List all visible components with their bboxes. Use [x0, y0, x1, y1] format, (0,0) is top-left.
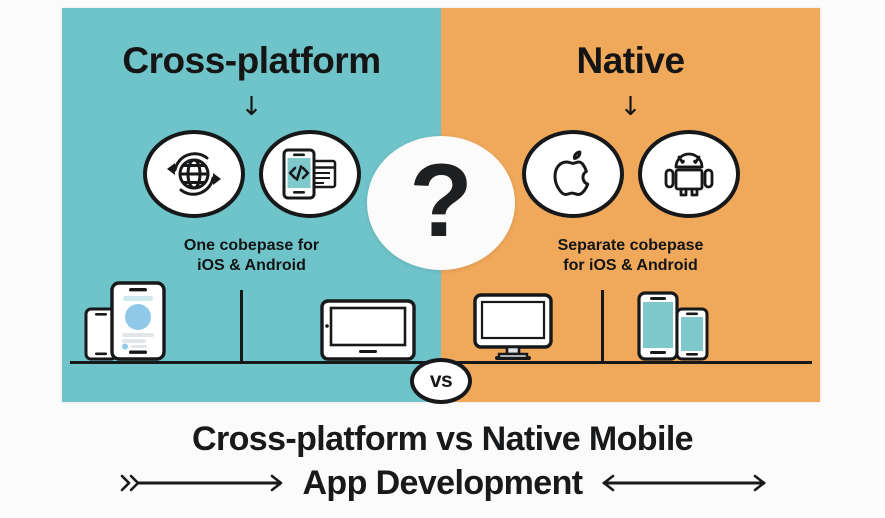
native-device-scene: [441, 272, 820, 364]
ground-line-right: [441, 361, 812, 364]
ground-line-left: [70, 361, 441, 364]
phone-large-teal: [637, 291, 679, 361]
desktop-monitor: [473, 293, 553, 361]
question-mark-badge: ?: [367, 136, 515, 270]
comparison-panel: Cross-platform ↓: [62, 8, 820, 402]
globe-sync-icon: [143, 130, 245, 218]
cross-platform-title: Cross-platform: [62, 40, 441, 82]
large-phone: [110, 281, 166, 361]
infographic-root: Cross-platform ↓: [0, 0, 885, 518]
scene-divider-left: [240, 290, 243, 364]
scene-divider-right: [601, 290, 604, 364]
down-arrow-right: ↓: [441, 94, 820, 120]
native-title: Native: [441, 40, 820, 82]
apple-logo-icon: [522, 130, 624, 218]
cross-platform-device-scene: [62, 272, 441, 364]
mobile-code-icon: [259, 130, 361, 218]
double-headed-arrow: [599, 472, 769, 494]
down-arrow-left: ↓: [62, 94, 441, 120]
footer-title-line2: App Development: [302, 462, 582, 504]
footer-title-line1: Cross-platform vs Native Mobile: [0, 418, 885, 460]
question-mark-text: ?: [409, 149, 473, 253]
vs-label: vs: [430, 369, 452, 393]
vs-badge: vs: [410, 358, 472, 404]
tablet-landscape: [320, 299, 416, 361]
double-chevron-right-arrow: [116, 472, 286, 494]
android-robot-icon: [638, 130, 740, 218]
phone-small-teal: [675, 307, 709, 361]
footer-title-line2-row: App Development: [0, 462, 885, 504]
footer-title-block: Cross-platform vs Native Mobile App Deve…: [0, 418, 885, 504]
